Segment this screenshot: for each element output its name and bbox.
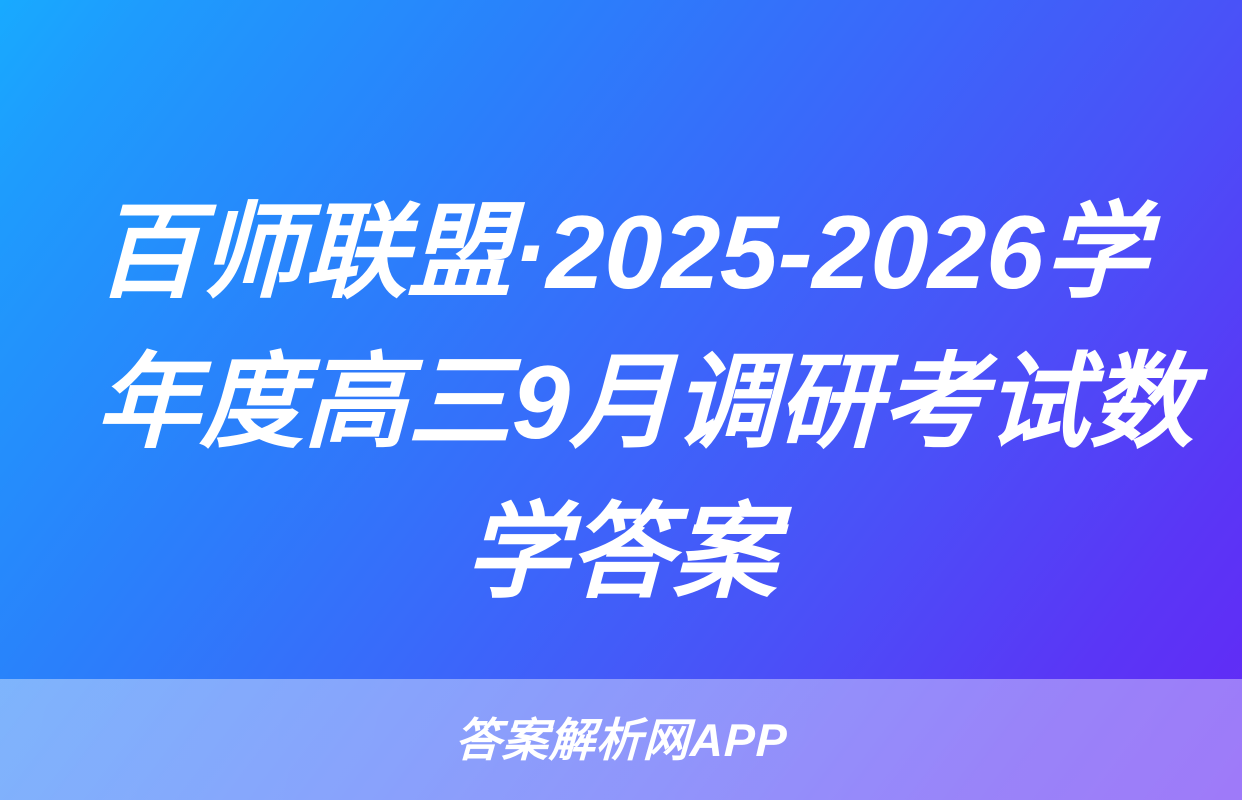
brand-name-label: 答案解析网APP — [454, 717, 788, 763]
poster-title: 百师联盟·2025-2026学 年度高三9月调研考试数 学答案 — [96, 178, 1146, 618]
title-line-2: 年度高三9月调研考试数 — [95, 328, 1148, 478]
brand-footer-band: 答案解析网APP — [0, 679, 1242, 800]
title-line-3: 学答案 — [95, 478, 1148, 628]
poster-canvas: 百师联盟·2025-2026学 年度高三9月调研考试数 学答案 答案解析网APP — [0, 0, 1242, 800]
title-line-1: 百师联盟·2025-2026学 — [95, 178, 1148, 328]
